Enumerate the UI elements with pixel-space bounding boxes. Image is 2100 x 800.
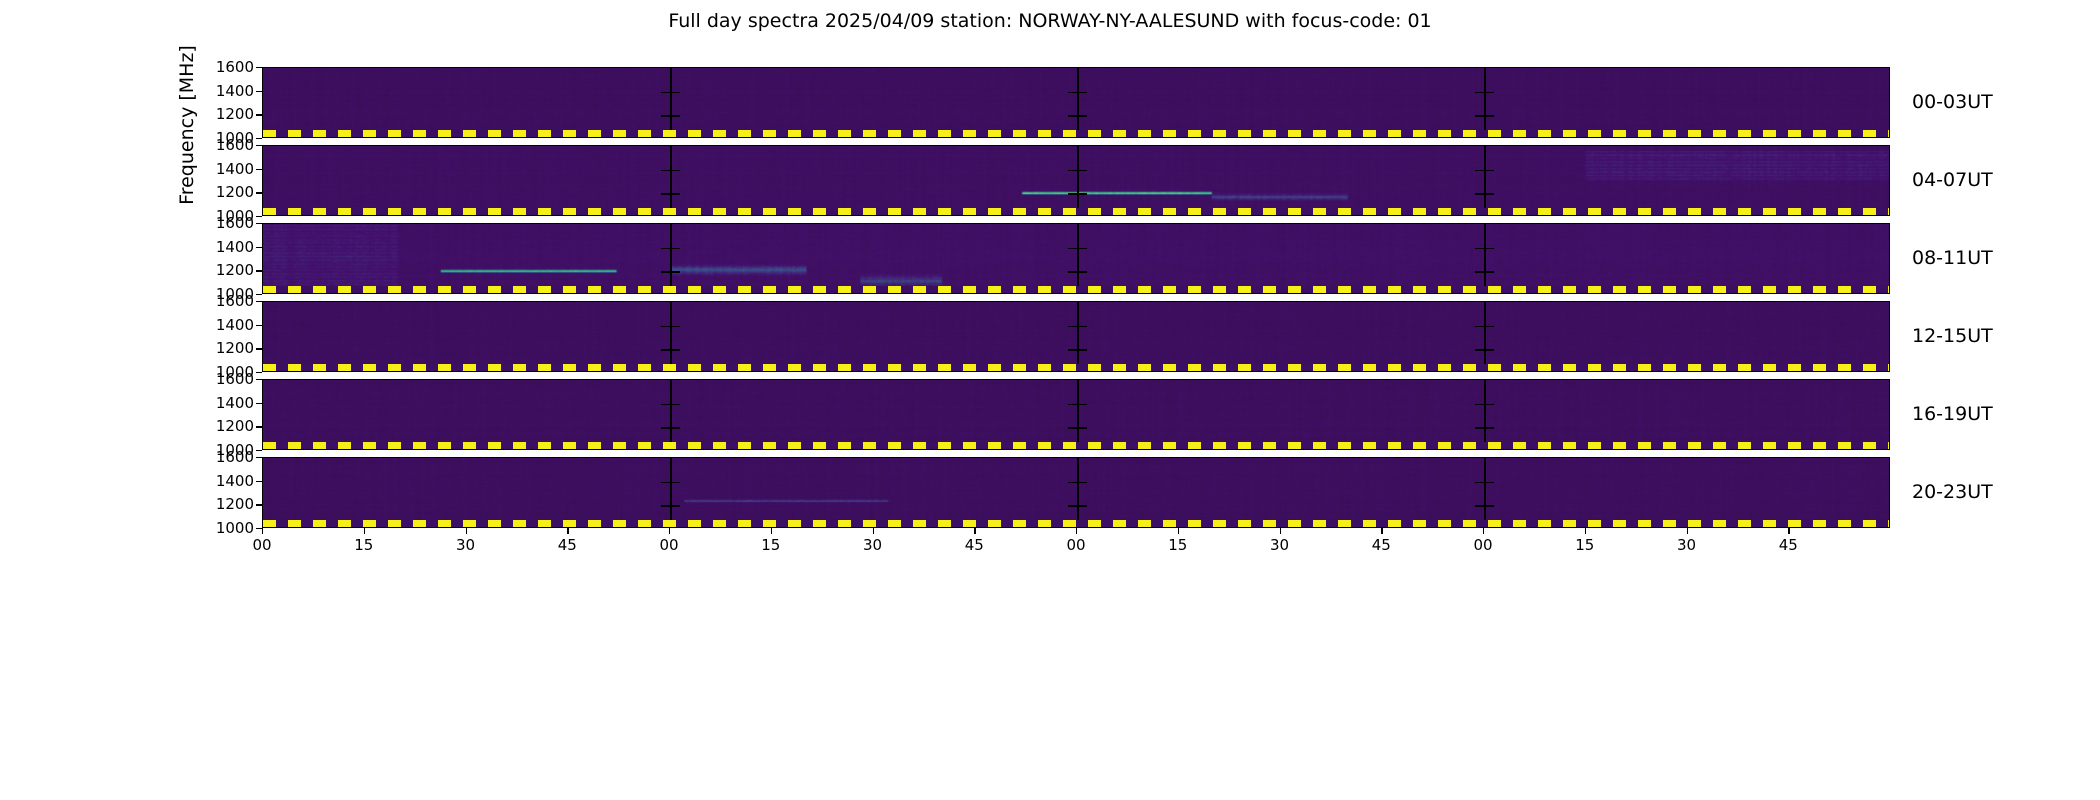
spectrogram-image [263, 68, 1889, 137]
panel-row [262, 457, 1890, 528]
interior-y-tick [661, 326, 670, 328]
row-time-label: 08-11UT [1912, 247, 1993, 269]
y-tick-mark [256, 270, 262, 271]
interior-y-tick [1068, 427, 1077, 429]
interior-y-tick [1068, 271, 1077, 273]
interior-y-tick [1078, 271, 1087, 273]
x-tick-mark [669, 528, 670, 534]
x-tick-label: 15 [746, 536, 796, 554]
x-tick-label: 00 [644, 536, 694, 554]
y-tick-mark [256, 223, 262, 224]
x-tick-label: 30 [848, 536, 898, 554]
y-tick-mark [256, 348, 262, 349]
hour-separator [1484, 302, 1486, 371]
interior-y-tick [1068, 248, 1077, 250]
spectrogram-image [263, 458, 1889, 527]
interior-y-tick [1068, 349, 1077, 351]
panel-row [262, 301, 1890, 372]
marker-dashed-line [263, 520, 1889, 527]
interior-y-tick [661, 92, 670, 94]
hour-separator [670, 302, 672, 371]
x-tick-label: 15 [1560, 536, 1610, 554]
y-tick-mark [256, 67, 262, 68]
y-tick-mark [256, 114, 262, 115]
x-tick-label: 15 [339, 536, 389, 554]
hour-separator [1484, 458, 1486, 527]
hour-separator [670, 68, 672, 137]
hour-separator [670, 458, 672, 527]
marker-dashed-line [263, 208, 1889, 215]
y-tick-mark [256, 247, 262, 248]
interior-y-tick [1485, 271, 1494, 273]
hour-separator [670, 224, 672, 293]
marker-dashed-line [263, 442, 1889, 449]
spectrogram-panel[interactable] [262, 67, 1890, 138]
interior-y-tick [671, 193, 680, 195]
interior-y-tick [1475, 248, 1484, 250]
interior-y-tick [1078, 115, 1087, 117]
panel-row [262, 223, 1890, 294]
y-tick-label: 1600 [190, 214, 254, 232]
interior-y-tick [1475, 505, 1484, 507]
interior-y-tick [1485, 115, 1494, 117]
y-tick-label: 1600 [190, 136, 254, 154]
interior-y-tick [1068, 482, 1077, 484]
y-tick-mark [256, 379, 262, 380]
interior-y-tick [1078, 427, 1087, 429]
y-tick-label: 1600 [190, 448, 254, 466]
marker-dashed-line [263, 130, 1889, 137]
interior-y-tick [661, 248, 670, 250]
spectrogram-image [263, 380, 1889, 449]
row-time-label: 04-07UT [1912, 169, 1993, 191]
y-tick-mark [256, 145, 262, 146]
hour-separator [670, 146, 672, 215]
x-tick-label: 45 [949, 536, 999, 554]
row-time-label: 12-15UT [1912, 325, 1993, 347]
interior-y-tick [1475, 427, 1484, 429]
interior-y-tick [671, 271, 680, 273]
panel-row [262, 67, 1890, 138]
y-tick-mark [256, 481, 262, 482]
y-tick-label: 1400 [190, 316, 254, 334]
interior-y-tick [671, 115, 680, 117]
interior-y-tick [671, 170, 680, 172]
interior-y-tick [1078, 326, 1087, 328]
interior-y-tick [1068, 193, 1077, 195]
x-tick-mark [262, 528, 263, 534]
interior-y-tick [661, 505, 670, 507]
interior-y-tick [671, 326, 680, 328]
x-tick-mark [567, 528, 568, 534]
interior-y-tick [1475, 170, 1484, 172]
x-tick-mark [1280, 528, 1281, 534]
x-tick-label: 30 [1255, 536, 1305, 554]
x-tick-mark [974, 528, 975, 534]
spectrogram-panel[interactable] [262, 223, 1890, 294]
interior-y-tick [1485, 170, 1494, 172]
hour-separator [1077, 146, 1079, 215]
row-time-label: 00-03UT [1912, 91, 1993, 113]
interior-y-tick [1078, 92, 1087, 94]
panel-row [262, 379, 1890, 450]
spectrogram-panel[interactable] [262, 145, 1890, 216]
hour-separator [1077, 68, 1079, 137]
interior-y-tick [1475, 271, 1484, 273]
interior-y-tick [1485, 404, 1494, 406]
interior-y-tick [1078, 505, 1087, 507]
interior-y-tick [671, 482, 680, 484]
interior-y-tick [1485, 505, 1494, 507]
x-tick-mark [466, 528, 467, 534]
y-tick-mark [256, 294, 262, 295]
spectrogram-panel[interactable] [262, 457, 1890, 528]
y-tick-mark [256, 169, 262, 170]
figure-title: Full day spectra 2025/04/09 station: NOR… [0, 10, 2100, 32]
hour-separator [1077, 224, 1079, 293]
interior-y-tick [1068, 505, 1077, 507]
y-tick-label: 1000 [190, 519, 254, 537]
x-tick-mark [1178, 528, 1179, 534]
x-tick-label: 30 [441, 536, 491, 554]
hour-separator [1484, 68, 1486, 137]
interior-y-tick [1078, 482, 1087, 484]
interior-y-tick [1485, 427, 1494, 429]
hour-separator [1484, 380, 1486, 449]
interior-y-tick [1485, 326, 1494, 328]
interior-y-tick [1485, 193, 1494, 195]
hour-separator [1077, 380, 1079, 449]
y-tick-label: 1600 [190, 292, 254, 310]
interior-y-tick [1078, 193, 1087, 195]
y-tick-mark [256, 403, 262, 404]
interior-y-tick [1068, 404, 1077, 406]
y-tick-label: 1200 [190, 261, 254, 279]
y-tick-label: 1200 [190, 495, 254, 513]
x-tick-mark [1788, 528, 1789, 534]
interior-y-tick [671, 248, 680, 250]
y-tick-label: 1400 [190, 160, 254, 178]
interior-y-tick [661, 427, 670, 429]
x-tick-mark [364, 528, 365, 534]
x-tick-mark [1585, 528, 1586, 534]
x-tick-label: 15 [1153, 536, 1203, 554]
x-tick-mark [1687, 528, 1688, 534]
y-tick-label: 1600 [190, 58, 254, 76]
interior-y-tick [1485, 92, 1494, 94]
y-tick-label: 1400 [190, 82, 254, 100]
x-tick-label: 45 [1763, 536, 1813, 554]
x-tick-mark [1483, 528, 1484, 534]
interior-y-tick [1475, 92, 1484, 94]
spectrogram-image [263, 146, 1889, 215]
hour-separator [1484, 146, 1486, 215]
spectrogram-panel[interactable] [262, 379, 1890, 450]
interior-y-tick [671, 505, 680, 507]
y-tick-mark [256, 325, 262, 326]
interior-y-tick [1475, 349, 1484, 351]
interior-y-tick [661, 349, 670, 351]
interior-y-tick [1475, 193, 1484, 195]
x-tick-label: 45 [542, 536, 592, 554]
hour-separator [1077, 302, 1079, 371]
x-tick-label: 45 [1356, 536, 1406, 554]
interior-y-tick [1068, 92, 1077, 94]
y-tick-mark [256, 504, 262, 505]
interior-y-tick [671, 92, 680, 94]
interior-y-tick [671, 349, 680, 351]
interior-y-tick [1475, 482, 1484, 484]
y-tick-mark [256, 301, 262, 302]
hour-separator [1077, 458, 1079, 527]
y-tick-label: 1200 [190, 417, 254, 435]
marker-dashed-line [263, 286, 1889, 293]
panel-row [262, 145, 1890, 216]
y-tick-label: 1400 [190, 472, 254, 490]
interior-y-tick [1068, 326, 1077, 328]
interior-y-tick [1485, 248, 1494, 250]
y-tick-label: 1200 [190, 339, 254, 357]
x-tick-label: 30 [1662, 536, 1712, 554]
interior-y-tick [1078, 349, 1087, 351]
y-tick-mark [256, 91, 262, 92]
y-tick-mark [256, 372, 262, 373]
interior-y-tick [1068, 115, 1077, 117]
y-tick-mark [256, 138, 262, 139]
spectrogram-panel[interactable] [262, 301, 1890, 372]
interior-y-tick [1485, 482, 1494, 484]
x-tick-mark [1076, 528, 1077, 534]
interior-y-tick [1485, 349, 1494, 351]
y-tick-mark [256, 192, 262, 193]
spectrogram-image [263, 302, 1889, 371]
x-tick-mark [873, 528, 874, 534]
x-tick-mark [1381, 528, 1382, 534]
x-tick-mark [771, 528, 772, 534]
interior-y-tick [661, 193, 670, 195]
interior-y-tick [671, 427, 680, 429]
row-time-label: 16-19UT [1912, 403, 1993, 425]
y-tick-label: 1600 [190, 370, 254, 388]
interior-y-tick [661, 482, 670, 484]
marker-dashed-line [263, 364, 1889, 371]
x-tick-label: 00 [237, 536, 287, 554]
interior-y-tick [1078, 248, 1087, 250]
interior-y-tick [1078, 404, 1087, 406]
interior-y-tick [1475, 326, 1484, 328]
y-tick-mark [256, 450, 262, 451]
spectrogram-figure: Full day spectra 2025/04/09 station: NOR… [0, 0, 2100, 800]
interior-y-tick [661, 115, 670, 117]
x-tick-label: 00 [1051, 536, 1101, 554]
interior-y-tick [661, 170, 670, 172]
interior-y-tick [1475, 115, 1484, 117]
y-tick-label: 1200 [190, 105, 254, 123]
spectrogram-image [263, 224, 1889, 293]
hour-separator [670, 380, 672, 449]
y-tick-label: 1200 [190, 183, 254, 201]
y-tick-mark [256, 216, 262, 217]
y-tick-label: 1400 [190, 394, 254, 412]
y-tick-mark [256, 426, 262, 427]
y-tick-label: 1400 [190, 238, 254, 256]
y-tick-mark [256, 528, 262, 529]
interior-y-tick [1078, 170, 1087, 172]
x-tick-label: 00 [1458, 536, 1508, 554]
hour-separator [1484, 224, 1486, 293]
interior-y-tick [661, 271, 670, 273]
interior-y-tick [671, 404, 680, 406]
interior-y-tick [661, 404, 670, 406]
row-time-label: 20-23UT [1912, 481, 1993, 503]
y-tick-mark [256, 457, 262, 458]
interior-y-tick [1475, 404, 1484, 406]
interior-y-tick [1068, 170, 1077, 172]
